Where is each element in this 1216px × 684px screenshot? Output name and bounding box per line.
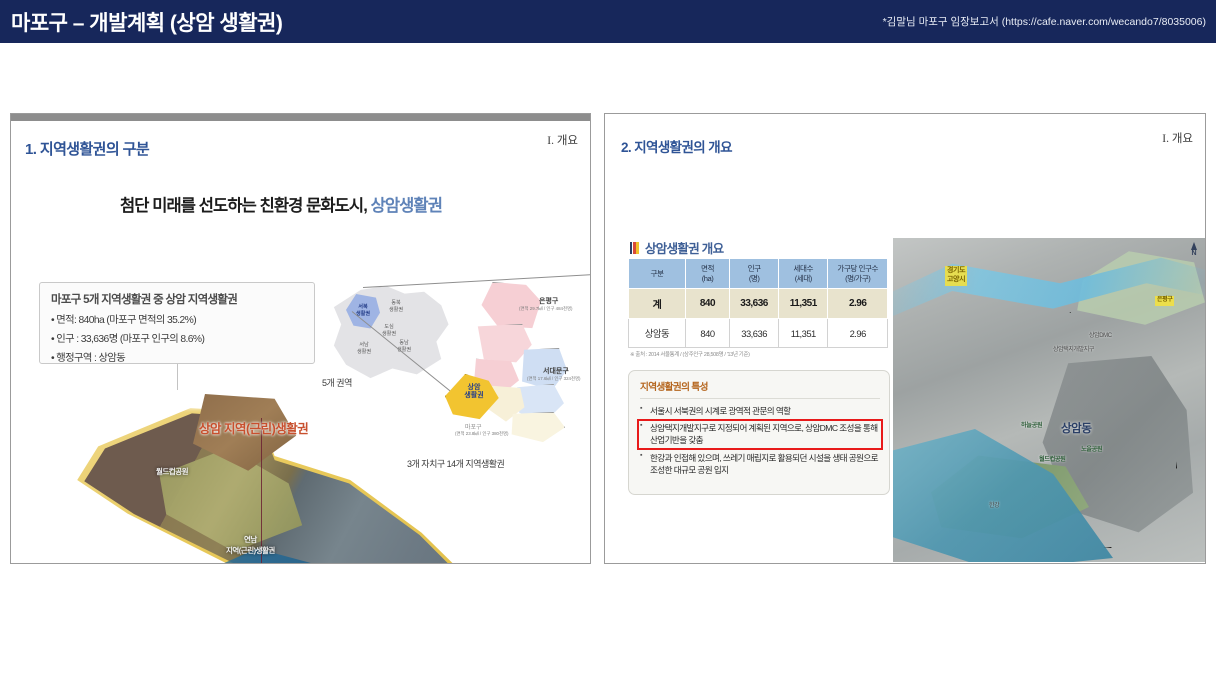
map-bottom-caption: 마포구 : 5개 지역(근린)생활권 [38, 561, 146, 564]
tagline-accent-text: 상암생활권 [371, 197, 442, 215]
overview-sub-heading: 상암생활권 개요 [630, 238, 723, 257]
characteristic-item-1: 서울시 서북권의 시계로 광역적 관문의 역할 [640, 405, 880, 417]
row-area-sangamdong: 840 [685, 319, 729, 348]
total-label: 계 [629, 289, 686, 319]
satellite-label-eunpyeong: 은평구 [1155, 296, 1174, 306]
seoul-five-zone-inset-map: 서북생활권 동북생활권 도심생활권 서남생활권 동남생활권 [329, 286, 451, 382]
table-source-note: ※ 출처 : 2014 서울통계 / (상주인구 28,508명 / '13년 … [630, 350, 750, 358]
characteristics-divider [640, 398, 880, 399]
characteristic-item-3: 한강과 인접해 있으며, 쓰레기 매립지로 활용되던 시설을 생태 공원으로 조… [640, 452, 880, 476]
row-population-sangamdong: 33,636 [729, 319, 778, 348]
district-sub-eunpyeong: (면적 29.7㎢ / 인구 484천명) [519, 306, 573, 312]
zone-label-dongbuk: 동북생활권 [383, 300, 409, 313]
characteristic-item-2-highlighted: 상암택지개발지구로 지정되어 계획된 지역으로, 상암DMC 조성을 통해 산업… [640, 422, 880, 446]
total-population: 33,636 [729, 289, 778, 319]
map-label-sangam-zone: 상암 지역(근린)생활권 [199, 418, 308, 437]
right-section-heading: 2. 지역생활권의 개요 [621, 136, 732, 156]
satellite-label-haneul-park: 하늘공원 [1021, 420, 1042, 429]
row-per-household-sangamdong: 2.96 [828, 319, 888, 348]
summary-info-box: 마포구 5개 지역생활권 중 상암 지역생활권 • 면적: 840ha (마포구… [39, 282, 315, 364]
summary-title: 마포구 5개 지역생활권 중 상암 지역생활권 [51, 291, 304, 307]
table-header-row: 구분 면적(ha) 인구(명) 세대수(세대) 가구당 인구수(명/가구) [629, 259, 888, 289]
summary-line-district: • 행정구역 : 상암동 [51, 349, 304, 364]
slide-panel-left: 1. 지역생활권의 구분 I. 개요 마포구 5개 지역생활권 중 상암 지역생… [10, 113, 591, 564]
map-label-worldcup-park: 월드컵공원 [156, 466, 188, 477]
source-citation: *김말님 마포구 임장보고서 (https://cafe.naver.com/w… [883, 14, 1206, 29]
satellite-label-sangamdong: 상암동 [1061, 420, 1092, 436]
satellite-label-gyeonggi-goyang: 경기도고양시 [945, 266, 967, 286]
satellite-label-noeul-park: 노을공원 [1081, 444, 1102, 453]
panel-top-accent-bar [11, 114, 590, 121]
sangam-satellite-map: 경기도고양시 은평구 상암DMC 상암택지개발지구 상암동 하늘공원 노을공원 … [893, 238, 1205, 562]
table-header-category: 구분 [629, 259, 686, 289]
district-label-seodaemun: 서대문구 [543, 366, 569, 376]
table-row: 계 840 33,636 11,351 2.96 [629, 289, 888, 319]
satellite-label-housing-district: 상암택지개발지구 [1053, 344, 1094, 353]
district-sub-seodaemun: (면적 17.6㎢ / 인구 324천명) [527, 376, 581, 382]
satellite-label-sangam-dmc: 상암DMC [1089, 330, 1112, 339]
page-title: 마포구 – 개발계획 (상암 생활권) [11, 7, 282, 37]
satellite-label-hangang: 한강 [989, 500, 999, 509]
right-tagline: 첨단 미래를 선도하는 친환경 문화도시, 상암생활권 [120, 192, 442, 216]
compass-north-label: N [1191, 250, 1197, 257]
satellite-label-worldcup-park: 월드컵공원 [1039, 454, 1065, 463]
characteristics-box: 지역생활권의 특성 서울시 서북권의 시계로 광역적 관문의 역할 상암택지개발… [628, 370, 890, 495]
zone-label-seobuk: 서북생활권 [349, 304, 377, 317]
left-section-heading: 1. 지역생활권의 구분 [25, 138, 149, 159]
summary-line-area: • 면적: 840ha (마포구 면적의 35.2%) [51, 311, 304, 326]
zone-label-seonam: 서남생활권 [351, 342, 377, 355]
summary-line-population: • 인구 : 33,636명 (마포구 인구의 8.6%) [51, 330, 304, 345]
district-label-eunpyeong: 은평구 [539, 296, 558, 306]
table-header-per-household: 가구당 인구수(명/가구) [828, 259, 888, 289]
total-per-household: 2.96 [828, 289, 888, 319]
right-corner-tag: I. 개요 [1162, 130, 1193, 146]
mapo-satellite-map: 상암 지역(근린)생활권 월드컵공원 연남지역(근린)생활권 망원 · 서교지역… [31, 386, 511, 564]
flag-icon [630, 242, 640, 254]
row-label-sangamdong: 상암동 [629, 319, 686, 348]
table-header-area: 면적(ha) [685, 259, 729, 289]
overview-sub-heading-label: 상암생활권 개요 [645, 238, 723, 257]
total-area: 840 [685, 289, 729, 319]
left-corner-tag: I. 개요 [547, 132, 578, 148]
characteristics-title: 지역생활권의 특성 [640, 379, 880, 393]
tagline-plain-text: 첨단 미래를 선도하는 친환경 문화도시, [120, 197, 371, 215]
district-shape-mapo-south [507, 412, 565, 444]
compass-icon: N [1191, 242, 1197, 257]
row-households-sangamdong: 11,351 [779, 319, 828, 348]
overview-table: 구분 면적(ha) 인구(명) 세대수(세대) 가구당 인구수(명/가구) 계 … [628, 258, 888, 348]
table-header-population: 인구(명) [729, 259, 778, 289]
title-bar: 마포구 – 개발계획 (상암 생활권) *김말님 마포구 임장보고서 (http… [0, 0, 1216, 43]
compass-arrow-shape [1191, 242, 1197, 250]
total-households: 11,351 [779, 289, 828, 319]
map-label-yeonnam-zone: 연남지역(근린)생활권 [226, 534, 275, 556]
table-header-households: 세대수(세대) [779, 259, 828, 289]
table-row: 상암동 840 33,636 11,351 2.96 [629, 319, 888, 348]
